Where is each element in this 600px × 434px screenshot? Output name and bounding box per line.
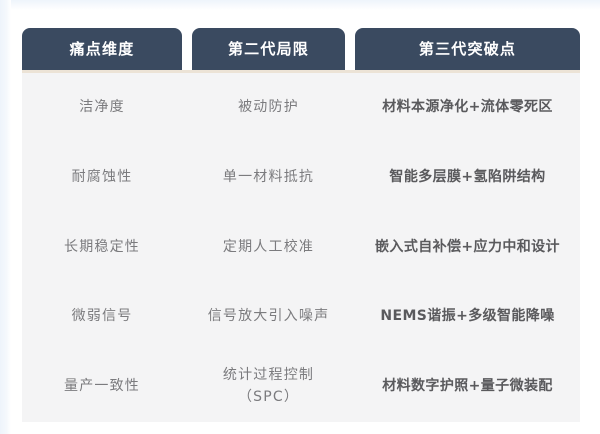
column-header-pain-point: 痛点维度: [22, 28, 182, 70]
cell-pain-point: 洁净度: [22, 73, 182, 143]
cell-text: 智能多层膜+氢陷阱结构: [389, 167, 545, 189]
cell-pain-point: 微弱信号: [22, 282, 182, 352]
cell-text: 洁净度: [79, 97, 125, 119]
cell-gen2-limit: 被动防护: [192, 73, 345, 143]
cell-gen2-limit: 统计过程控制（SPC）: [192, 352, 345, 422]
column-header-gen3-breakthrough: 第三代突破点: [355, 28, 580, 70]
table-body: 洁净度 被动防护 材料本源净化+流体零死区 耐腐蚀性 单一材料抵抗 智能多层膜+…: [22, 73, 580, 422]
cell-text: 材料本源净化+流体零死区: [382, 97, 553, 119]
column-header-label: 痛点维度: [70, 42, 135, 57]
table-row: 长期稳定性 定期人工校准 嵌入式自补偿+应力中和设计: [22, 213, 580, 283]
cell-text: 单一材料抵抗: [223, 167, 314, 189]
cell-gen3-breakthrough: 嵌入式自补偿+应力中和设计: [355, 213, 580, 283]
cell-text: 耐腐蚀性: [72, 167, 133, 189]
cell-pain-point: 长期稳定性: [22, 213, 182, 283]
cell-text: 长期稳定性: [64, 237, 140, 259]
table-row: 洁净度 被动防护 材料本源净化+流体零死区: [22, 73, 580, 143]
cell-text: 定期人工校准: [223, 237, 314, 259]
column-header-gen2-limit: 第二代局限: [192, 28, 345, 70]
cell-text: 信号放大引入噪声: [208, 306, 330, 328]
cell-gen2-limit: 定期人工校准: [192, 213, 345, 283]
cell-gen3-breakthrough: NEMS谐振+多级智能降噪: [355, 282, 580, 352]
left-edge-decoration: [0, 0, 11, 434]
cell-pain-point: 量产一致性: [22, 352, 182, 422]
cell-text: 嵌入式自补偿+应力中和设计: [375, 237, 560, 259]
cell-text: 被动防护: [238, 97, 299, 119]
table-row: 耐腐蚀性 单一材料抵抗 智能多层膜+氢陷阱结构: [22, 143, 580, 213]
cell-gen3-breakthrough: 材料数字护照+量子微装配: [355, 352, 580, 422]
table-row: 量产一致性 统计过程控制（SPC） 材料数字护照+量子微装配: [22, 352, 580, 422]
cell-text: 材料数字护照+量子微装配: [382, 376, 553, 398]
column-header-label: 第二代局限: [228, 42, 309, 57]
cell-gen2-limit: 单一材料抵抗: [192, 143, 345, 213]
cell-pain-point: 耐腐蚀性: [22, 143, 182, 213]
table-header-row: 痛点维度 第二代局限 第三代突破点: [22, 28, 580, 70]
comparison-table: 痛点维度 第二代局限 第三代突破点 洁净度 被动防护 材料本源净化+流体零死区: [22, 0, 580, 434]
cell-gen2-limit: 信号放大引入噪声: [192, 282, 345, 352]
cell-text: 量产一致性: [64, 376, 140, 398]
cell-gen3-breakthrough: 材料本源净化+流体零死区: [355, 73, 580, 143]
column-header-label: 第三代突破点: [419, 42, 516, 57]
cell-text: 统计过程控制（SPC）: [198, 365, 339, 408]
cell-text: NEMS谐振+多级智能降噪: [380, 306, 554, 328]
table-row: 微弱信号 信号放大引入噪声 NEMS谐振+多级智能降噪: [22, 282, 580, 352]
cell-text: 微弱信号: [72, 306, 133, 328]
cell-gen3-breakthrough: 智能多层膜+氢陷阱结构: [355, 143, 580, 213]
